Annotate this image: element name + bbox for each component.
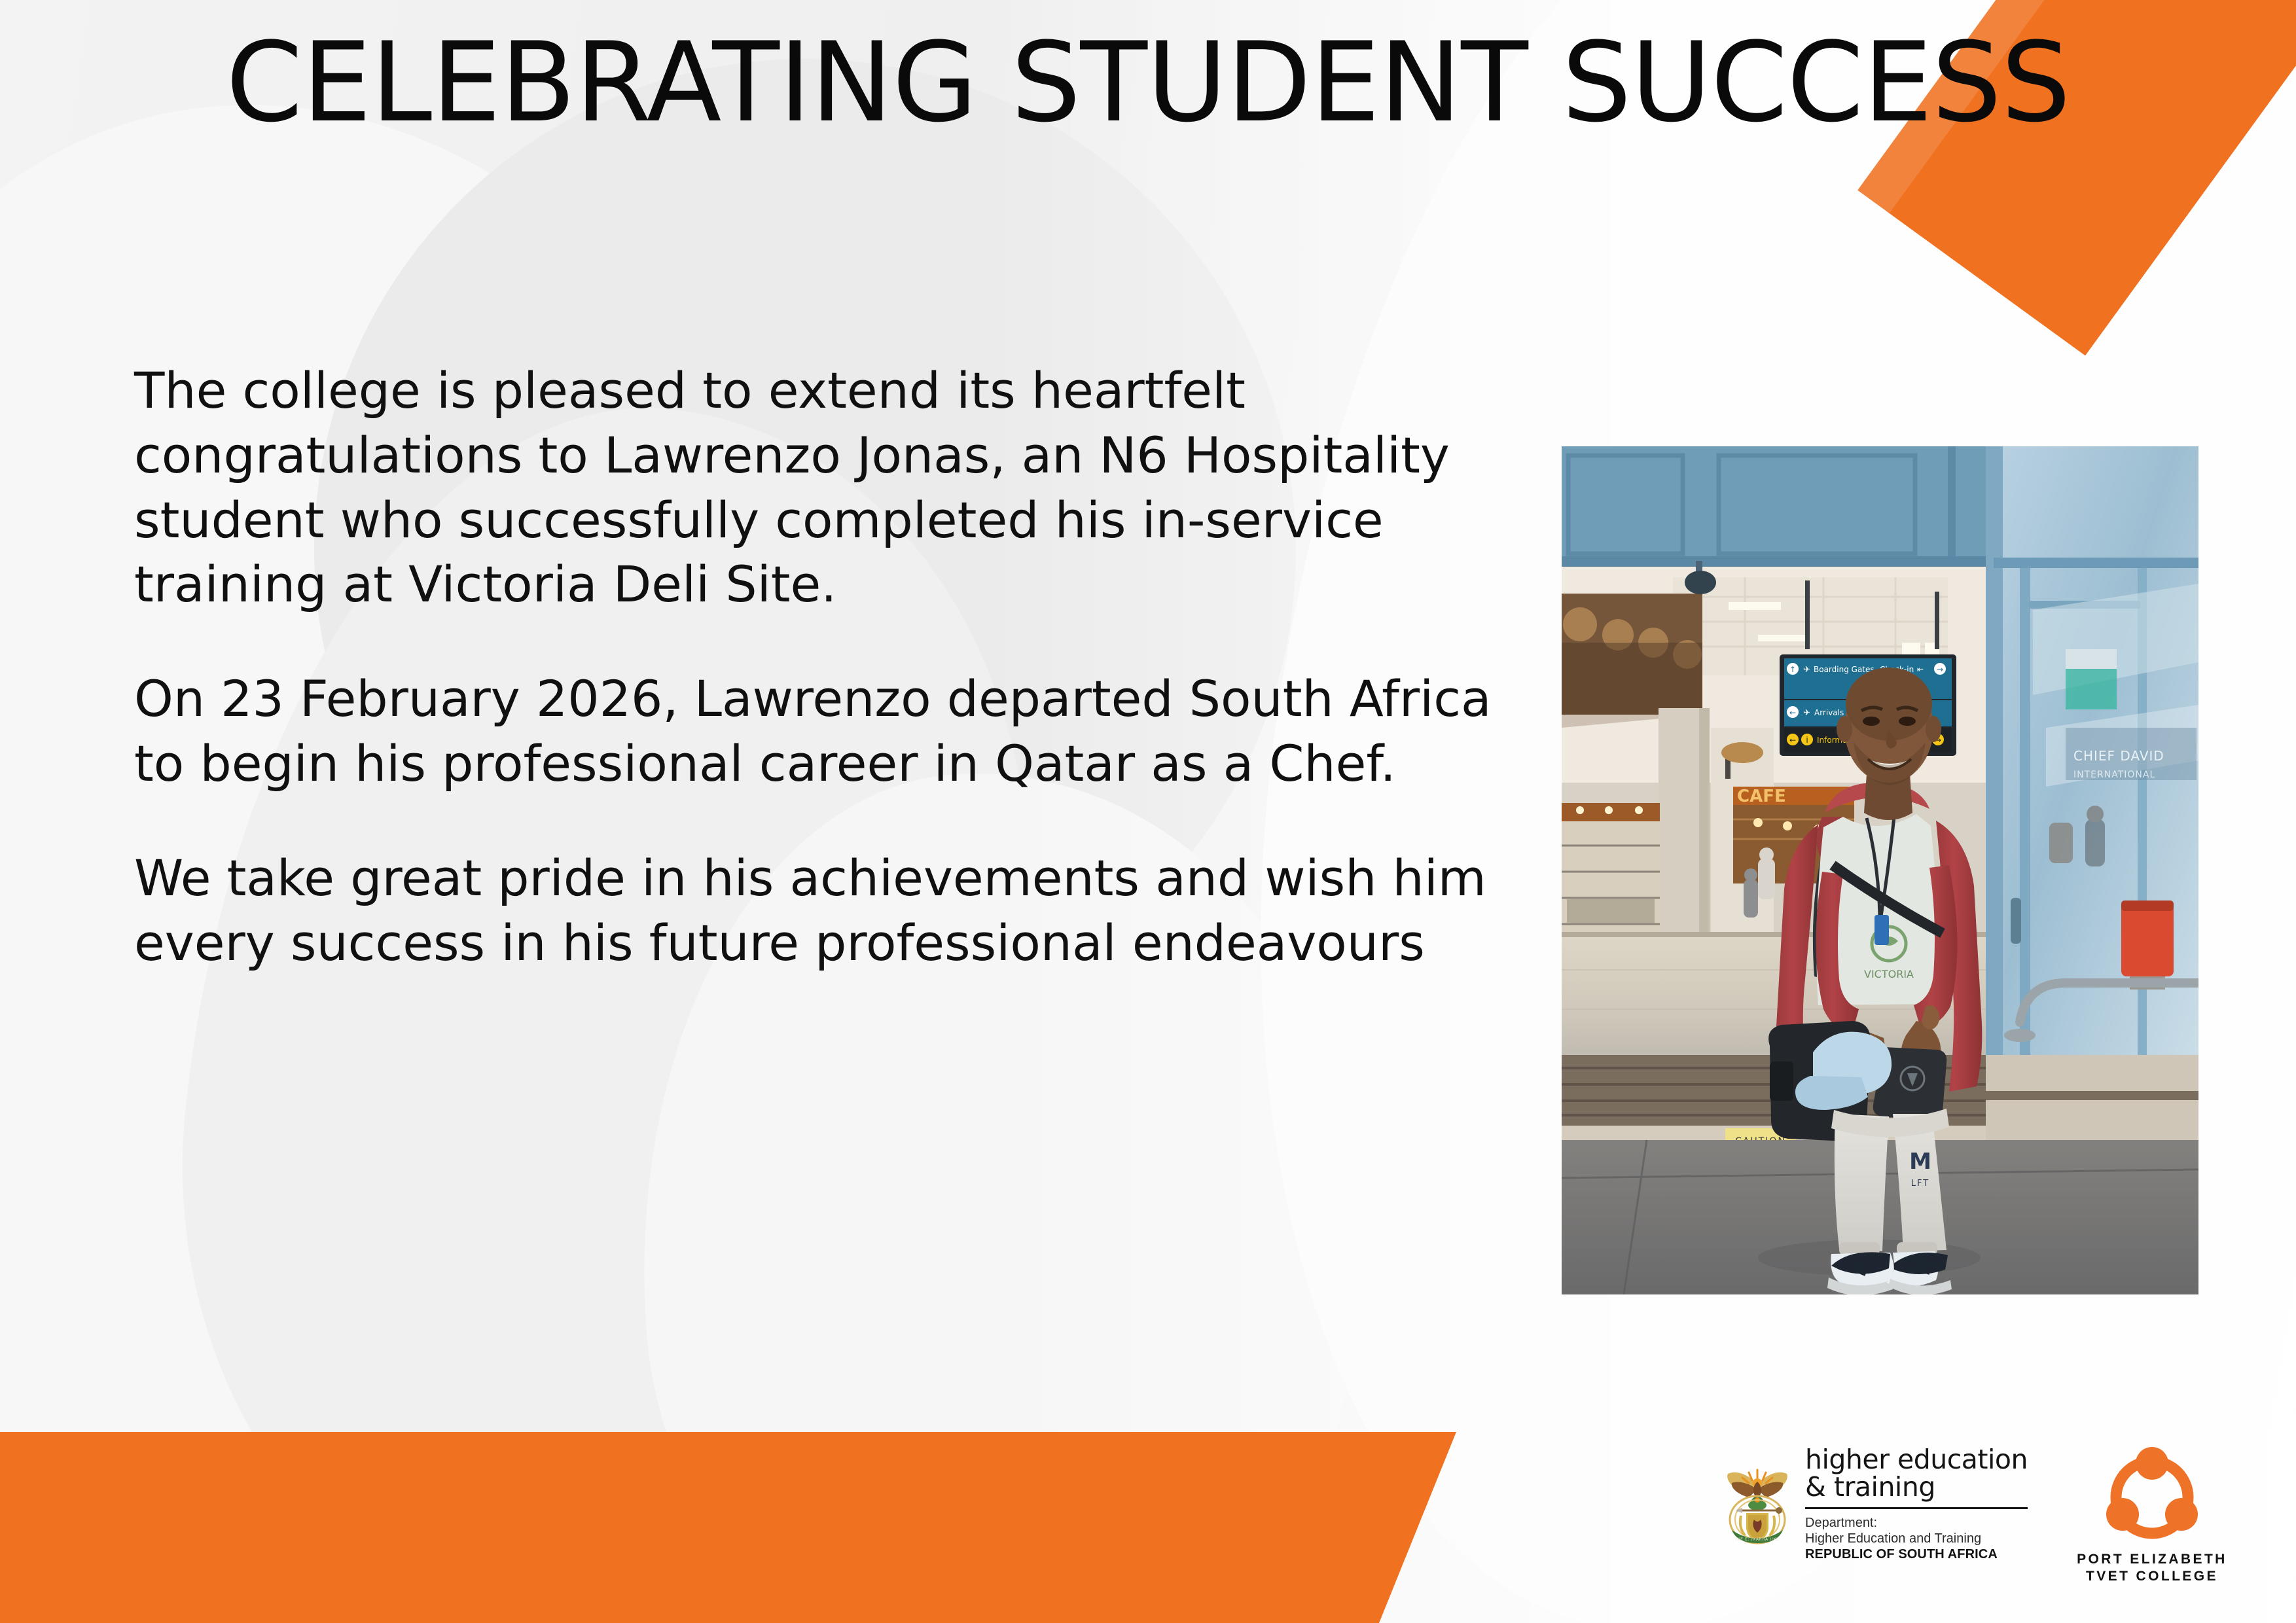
slide-canvas: CELEBRATING STUDENT SUCCESS The college …: [0, 0, 2296, 1623]
svg-text:←: ←: [1789, 736, 1796, 745]
south-africa-coat-of-arms-icon: !KE E: /XARRA //KE: [1721, 1465, 1793, 1544]
svg-text:Arrivals: Arrivals: [1814, 708, 1844, 717]
dhet-line1: higher education: [1805, 1446, 2028, 1474]
svg-text:⇤: ⇤: [1917, 665, 1924, 674]
svg-text:!KE E: /XARRA //KE: !KE E: /XARRA //KE: [1736, 1537, 1780, 1542]
svg-text:CAFE: CAFE: [1737, 787, 1786, 806]
college-triad-mark-icon: [2101, 1446, 2203, 1544]
svg-text:INTERNATIONAL: INTERNATIONAL: [2073, 770, 2155, 780]
body-paragraph-3: We take great pride in his achievements …: [134, 846, 1528, 976]
body-copy: The college is pleased to extend its hea…: [134, 359, 1528, 975]
svg-text:VICTORIA: VICTORIA: [1864, 968, 1914, 980]
svg-text:M: M: [1909, 1149, 1931, 1175]
svg-text:i: i: [1806, 736, 1808, 745]
svg-text:LFT: LFT: [1911, 1179, 1929, 1188]
dhet-department-name: Higher Education and Training: [1805, 1531, 2028, 1546]
svg-text:Boarding Gates: Boarding Gates: [1814, 665, 1874, 674]
college-name-line1: PORT ELIZABETH: [2077, 1551, 2227, 1568]
body-paragraph-1: The college is pleased to extend its hea…: [134, 359, 1528, 617]
svg-text:CHIEF DAVID: CHIEF DAVID: [2073, 748, 2164, 764]
svg-text:→: →: [1937, 665, 1943, 674]
body-paragraph-2: On 23 February 2026, Lawrenzo departed S…: [134, 667, 1528, 796]
dhet-country: REPUBLIC OF SOUTH AFRICA: [1805, 1546, 2028, 1562]
student-photo: ↑ ✈ Boarding Gates Check-in ⇤ → ← ✈ Arri…: [1562, 446, 2198, 1294]
port-elizabeth-tvet-college-logo: PORT ELIZABETH TVET COLLEGE: [2073, 1446, 2231, 1584]
dhet-department-label: Department:: [1805, 1515, 2028, 1531]
dhet-line2: & training: [1805, 1474, 2028, 1501]
svg-text:✈: ✈: [1803, 708, 1810, 718]
svg-text:←: ←: [1789, 708, 1796, 717]
decorative-band-bottom-dark: [0, 1432, 1456, 1623]
college-name-line2: TVET COLLEGE: [2086, 1568, 2218, 1585]
page-title: CELEBRATING STUDENT SUCCESS: [0, 25, 2296, 140]
dhet-wordmark: higher education & training Department: …: [1805, 1446, 2028, 1563]
svg-text:✈: ✈: [1803, 665, 1810, 675]
footer-logos: !KE E: /XARRA //KE higher education & tr…: [1721, 1446, 2258, 1610]
dhet-logo: !KE E: /XARRA //KE higher education & tr…: [1721, 1446, 2028, 1563]
dhet-divider: [1805, 1507, 2028, 1509]
svg-text:↑: ↑: [1789, 665, 1796, 674]
